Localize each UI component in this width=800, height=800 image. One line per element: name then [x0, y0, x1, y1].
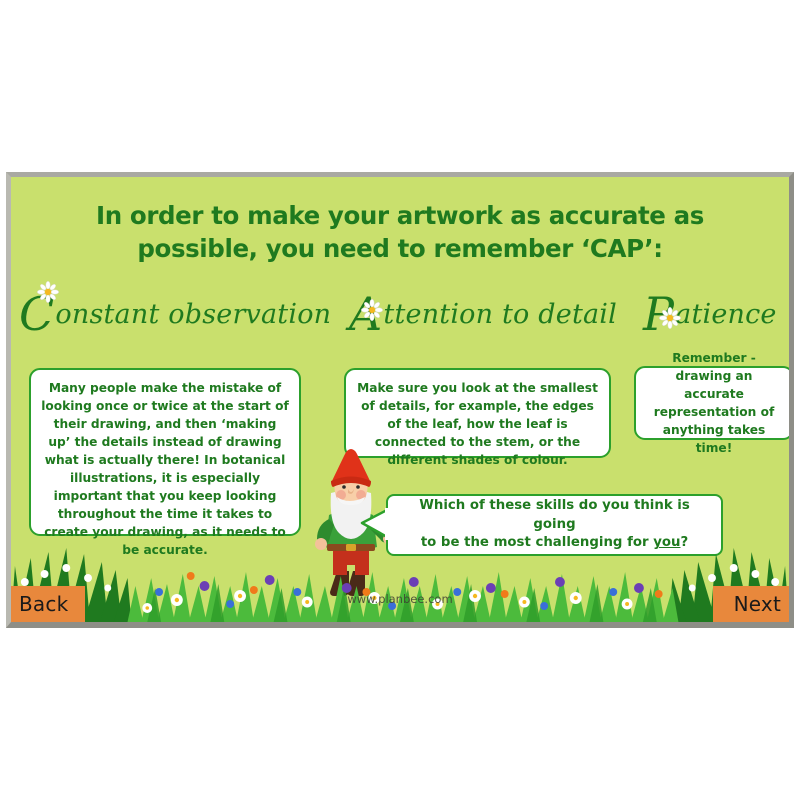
watermark: www.planbee.com [11, 592, 789, 606]
heading-1-rest: onstant observation [55, 299, 331, 330]
heading-2-rest: ttention to detail [383, 299, 617, 330]
heading-3-rest: atience [675, 299, 776, 330]
page-title: In order to make your artwork as accurat… [11, 199, 789, 265]
heading-attention-to-detail: Attention to detail [349, 299, 617, 330]
gnome-eye-right [356, 485, 360, 489]
speech-bubble: Which of these skills do you think is go… [386, 494, 723, 556]
gnome-trousers [333, 549, 369, 575]
gnome-eye-left [342, 485, 346, 489]
textbox-patience: Remember - drawing an accurate represent… [634, 366, 794, 440]
gnome-hand-left [315, 538, 327, 550]
speech-bubble-line-1: Which of these skills do you think is go… [419, 498, 690, 532]
heading-patience: Patience [643, 299, 777, 330]
gnome-belt-buckle [346, 544, 356, 551]
heading-2-initial: A [349, 287, 382, 341]
speech-bubble-emphasis: you [653, 535, 680, 550]
speech-bubble-line-2-post: ? [680, 535, 688, 550]
textbox-constant-observation: Many people make the mistake of looking … [29, 368, 301, 536]
speech-bubble-text: Which of these skills do you think is go… [400, 497, 709, 554]
speech-bubble-line-2-pre: to be the most challenging for [421, 535, 653, 550]
heading-1-initial: C [19, 287, 54, 341]
slide-canvas: In order to make your artwork as accurat… [6, 172, 794, 628]
speech-bubble-tail [359, 508, 389, 540]
screenshot-canvas: In order to make your artwork as accurat… [0, 0, 800, 800]
textbox-attention-to-detail: Make sure you look at the smallest of de… [344, 368, 611, 458]
heading-constant-observation: Constant observation [19, 299, 331, 330]
heading-3-initial: P [643, 287, 674, 341]
